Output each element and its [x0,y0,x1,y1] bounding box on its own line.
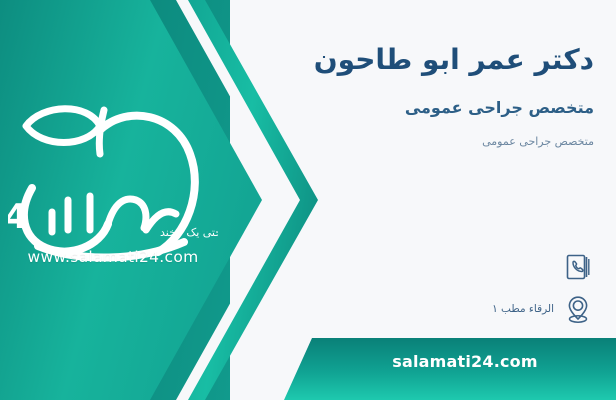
contact-address-label: الرقاء مطب ۱ [492,303,560,315]
location-pin-icon[interactable] [560,291,596,327]
salamati24-logo: 24 براحتی یک لبخند www.salamati24.com [8,96,218,281]
contact-row-address[interactable]: الرقاء مطب ۱ [266,288,596,330]
banner-website-url[interactable]: salamati24.com [330,352,600,371]
logo-badge-24: 24 [8,197,28,237]
contact-row-phone[interactable] [266,246,596,288]
phone-book-icon[interactable] [560,249,596,285]
contact-block: الرقاء مطب ۱ [266,246,596,330]
doctor-specialty-primary: متخصص جراحی عمومی [254,98,594,117]
doctor-profile-card: 24 براحتی یک لبخند www.salamati24.com دک… [0,0,616,400]
logo-badge-text: 24 [8,197,28,237]
doctor-specialty-secondary: متخصص جراحی عمومی [254,135,594,148]
logo-website-url: www.salamati24.com [8,248,218,266]
doctor-name: دکتر عمر ابو طاحون [254,42,594,77]
logo-tagline: براحتی یک لبخند [160,226,218,239]
